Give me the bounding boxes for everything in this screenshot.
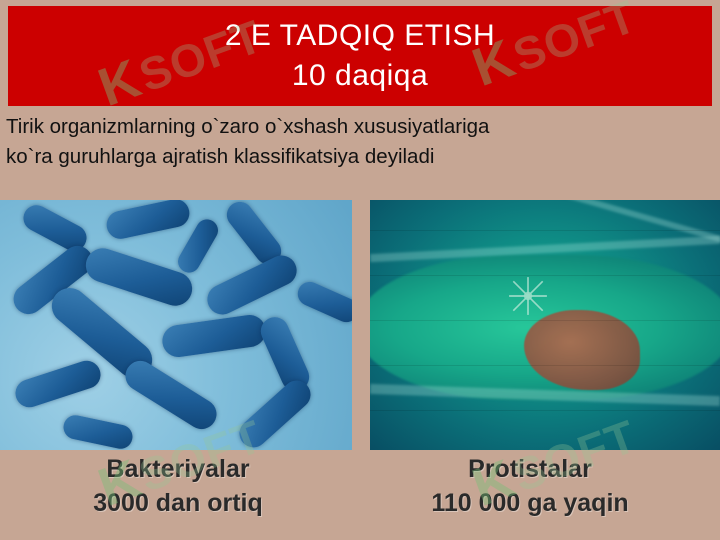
title-line-1: 2 E TADQIQ ETISH (225, 16, 495, 56)
scanline (370, 230, 720, 231)
caption-protist: Protistalar 110 000 ga yaqin (360, 452, 700, 520)
slide-canvas: 2 E TADQIQ ETISH 10 daqiqa Tirik organiz… (0, 0, 720, 540)
captions-row: Bakteriyalar 3000 dan ortiq Protistalar … (0, 452, 720, 540)
caption-protist-title: Protistalar (360, 452, 700, 486)
caption-protist-count: 110 000 ga yaqin (360, 486, 700, 520)
scanline (370, 275, 720, 276)
caption-bacteria: Bakteriyalar 3000 dan ortiq (8, 452, 348, 520)
scanline (370, 365, 720, 366)
contractile-vacuole-star-icon (507, 275, 549, 317)
protist-micrograph (370, 200, 720, 450)
title-banner: 2 E TADQIQ ETISH 10 daqiqa (8, 6, 712, 106)
scanline (370, 410, 720, 411)
body-line-1: Tirik organizmlarning o`zaro o`xshash xu… (6, 112, 714, 142)
caption-bacteria-count: 3000 dan ortiq (8, 486, 348, 520)
scanline (370, 320, 720, 321)
images-row (0, 200, 720, 450)
bacteria-micrograph (0, 200, 352, 450)
body-paragraph: Tirik organizmlarning o`zaro o`xshash xu… (6, 112, 714, 172)
body-line-2: ko`ra guruhlarga ajratish klassifikatsiy… (6, 142, 714, 172)
caption-bacteria-title: Bakteriyalar (8, 452, 348, 486)
title-line-2: 10 daqiqa (292, 56, 428, 96)
